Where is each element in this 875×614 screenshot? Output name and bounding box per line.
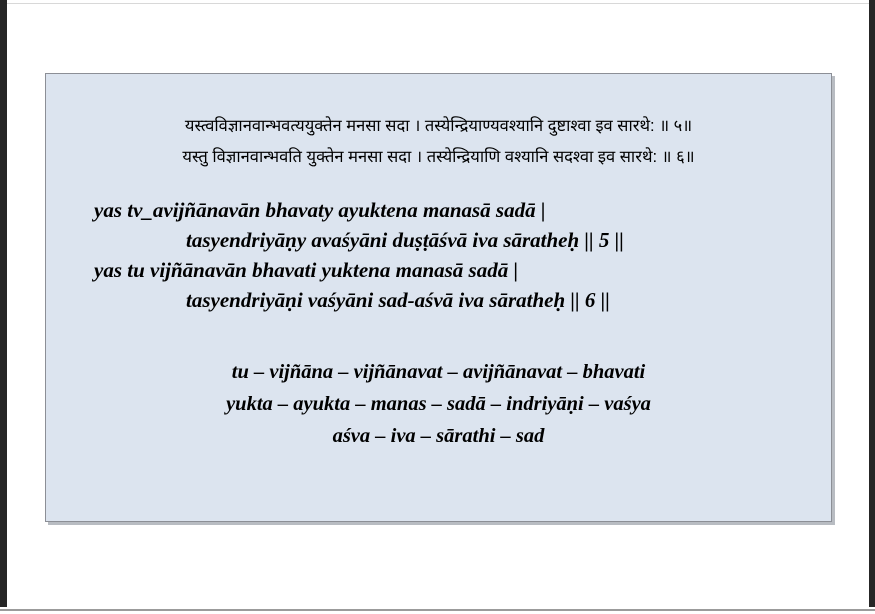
transliteration-block: yas tv_avijñānavān bhavaty ayuktena mana… [46, 195, 831, 315]
page-top-rule [7, 3, 869, 4]
document-page: यस्त्वविज्ञानवान्भवत्ययुक्तेन मनसा सदा ।… [0, 0, 875, 614]
page-right-gutter [869, 0, 875, 607]
vocabulary-line-2: yukta – ayukta – manas – sadā – indriyāṇ… [46, 388, 831, 420]
verse-highlight-panel: यस्त्वविज्ञानवान्भवत्ययुक्तेन मनसा सदा ।… [45, 73, 832, 522]
vocabulary-word-list: tu – vijñāna – vijñānavat – avijñānavat … [46, 356, 831, 452]
transliteration-line-6a: yas tu vijñānavān bhavati yuktena manasā… [94, 255, 811, 285]
page-left-gutter [0, 0, 7, 607]
vocabulary-line-1: tu – vijñāna – vijñānavat – avijñānavat … [46, 356, 831, 388]
devanagari-verse-line-5: यस्त्वविज्ञानवान्भवत्ययुक्तेन मनसा सदा ।… [46, 111, 831, 142]
transliteration-line-5b: tasyendriyāṇy avaśyāni duṣṭāśvā iva sāra… [94, 225, 811, 255]
devanagari-verse-block: यस्त्वविज्ञानवान्भवत्ययुक्तेन मनसा सदा ।… [46, 74, 831, 173]
transliteration-line-6b: tasyendriyāṇi vaśyāni sad-aśvā iva sārat… [94, 285, 811, 315]
devanagari-verse-line-6: यस्तु विज्ञानवान्भवति युक्तेन मनसा सदा ।… [46, 142, 831, 173]
page-bottom-rule [0, 609, 875, 611]
vocabulary-line-3: aśva – iva – sārathi – sad [46, 420, 831, 452]
transliteration-line-5a: yas tv_avijñānavān bhavaty ayuktena mana… [94, 195, 811, 225]
